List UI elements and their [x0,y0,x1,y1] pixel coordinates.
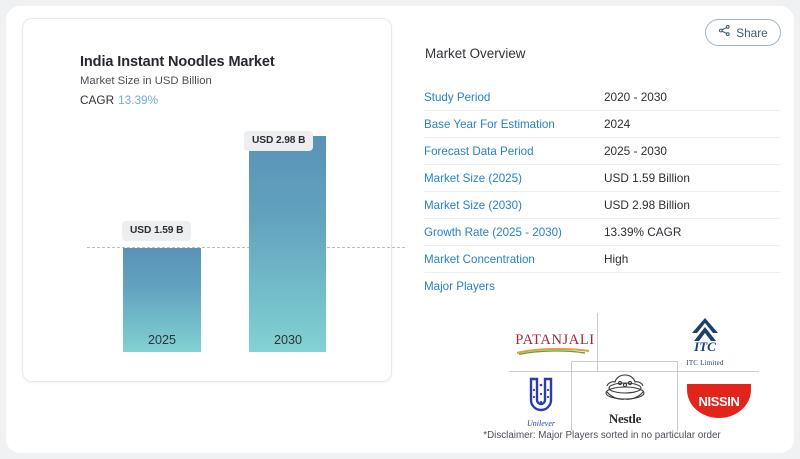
disclaimer-text: *Disclaimer: Major Players sorted in no … [424,430,780,441]
grid-divider-vertical-left [571,371,572,431]
major-players-logo-grid: PATANJALI ITC ITC Limited [509,313,759,431]
itc-sublabel: ITC Limited [683,359,727,367]
table-row: Market Concentration High [424,246,780,273]
logo-nissin: NISSIN [681,379,757,423]
row-value: 2020 - 2030 [604,90,667,104]
cagr-value: 13.39% [118,93,158,107]
nestle-wordmark: Nestle [594,411,656,427]
row-label: Market Size (2025) [424,172,604,185]
table-row: Study Period 2020 - 2030 [424,84,780,111]
nissin-badge: NISSIN [687,384,751,418]
table-row: Market Size (2030) USD 2.98 Billion [424,192,780,219]
chart-title: India Instant Noodles Market [80,54,275,70]
page-root: India Instant Noodles Market Market Size… [0,0,800,459]
row-label: Base Year For Estimation [424,118,604,131]
row-value: USD 1.59 Billion [604,171,690,185]
svg-text:ITC: ITC [693,339,716,353]
logo-nestle: Nestle [575,369,675,429]
row-label: Growth Rate (2025 - 2030) [424,226,604,239]
row-label: Forecast Data Period [424,145,604,158]
logo-patanjali: PATANJALI [513,319,597,367]
overview-title: Market Overview [425,46,525,61]
row-value: USD 2.98 Billion [604,198,690,212]
row-value: 13.39% CAGR [604,225,681,239]
row-label: Market Size (2030) [424,199,604,212]
table-row: Market Size (2025) USD 1.59 Billion [424,165,780,192]
grid-divider-vertical-right [677,371,678,431]
chart-subtitle: Market Size in USD Billion [80,75,212,87]
row-value: 2024 [604,117,630,131]
row-label: Study Period [424,91,604,104]
grid-divider-vertical-top [597,313,598,371]
cagr-label: CAGR [80,93,114,107]
unilever-wordmark: Unilever [524,419,558,428]
x-tick-2030: 2030 [243,333,333,347]
table-row: Base Year For Estimation 2024 [424,111,780,138]
table-row: Forecast Data Period 2025 - 2030 [424,138,780,165]
bar-value-label-2025: USD 1.59 B [122,221,191,241]
row-label: Major Players [424,280,604,293]
patanjali-wordmark: PATANJALI [515,332,594,348]
row-value: 2025 - 2030 [604,144,667,158]
overview-table: Study Period 2020 - 2030 Base Year For E… [424,84,780,300]
nissin-wordmark: NISSIN [699,394,740,409]
chart-card: India Instant Noodles Market Market Size… [22,18,392,382]
bar-2030[interactable] [249,136,326,352]
x-tick-2025: 2025 [117,333,207,347]
chart-cagr: CAGR13.39% [80,93,158,107]
share-button[interactable]: Share [705,19,781,46]
unilever-u-mark [524,376,558,414]
row-value: High [604,252,628,266]
logo-unilever: Unilever [511,375,571,429]
table-row: Growth Rate (2025 - 2030) 13.39% CAGR [424,219,780,246]
itc-emblem: ITC [683,317,727,353]
bar-chart-plot: USD 1.59 B USD 2.98 B 2025 2030 Source :… [63,119,393,359]
nestle-birds-nest-mark [594,372,656,406]
share-button-label: Share [736,26,767,40]
table-row-major-players: Major Players [424,273,780,300]
logo-itc: ITC ITC Limited [659,315,751,369]
share-icon [718,24,731,42]
bar-value-label-2030: USD 2.98 B [244,131,313,151]
row-label: Market Concentration [424,253,604,266]
